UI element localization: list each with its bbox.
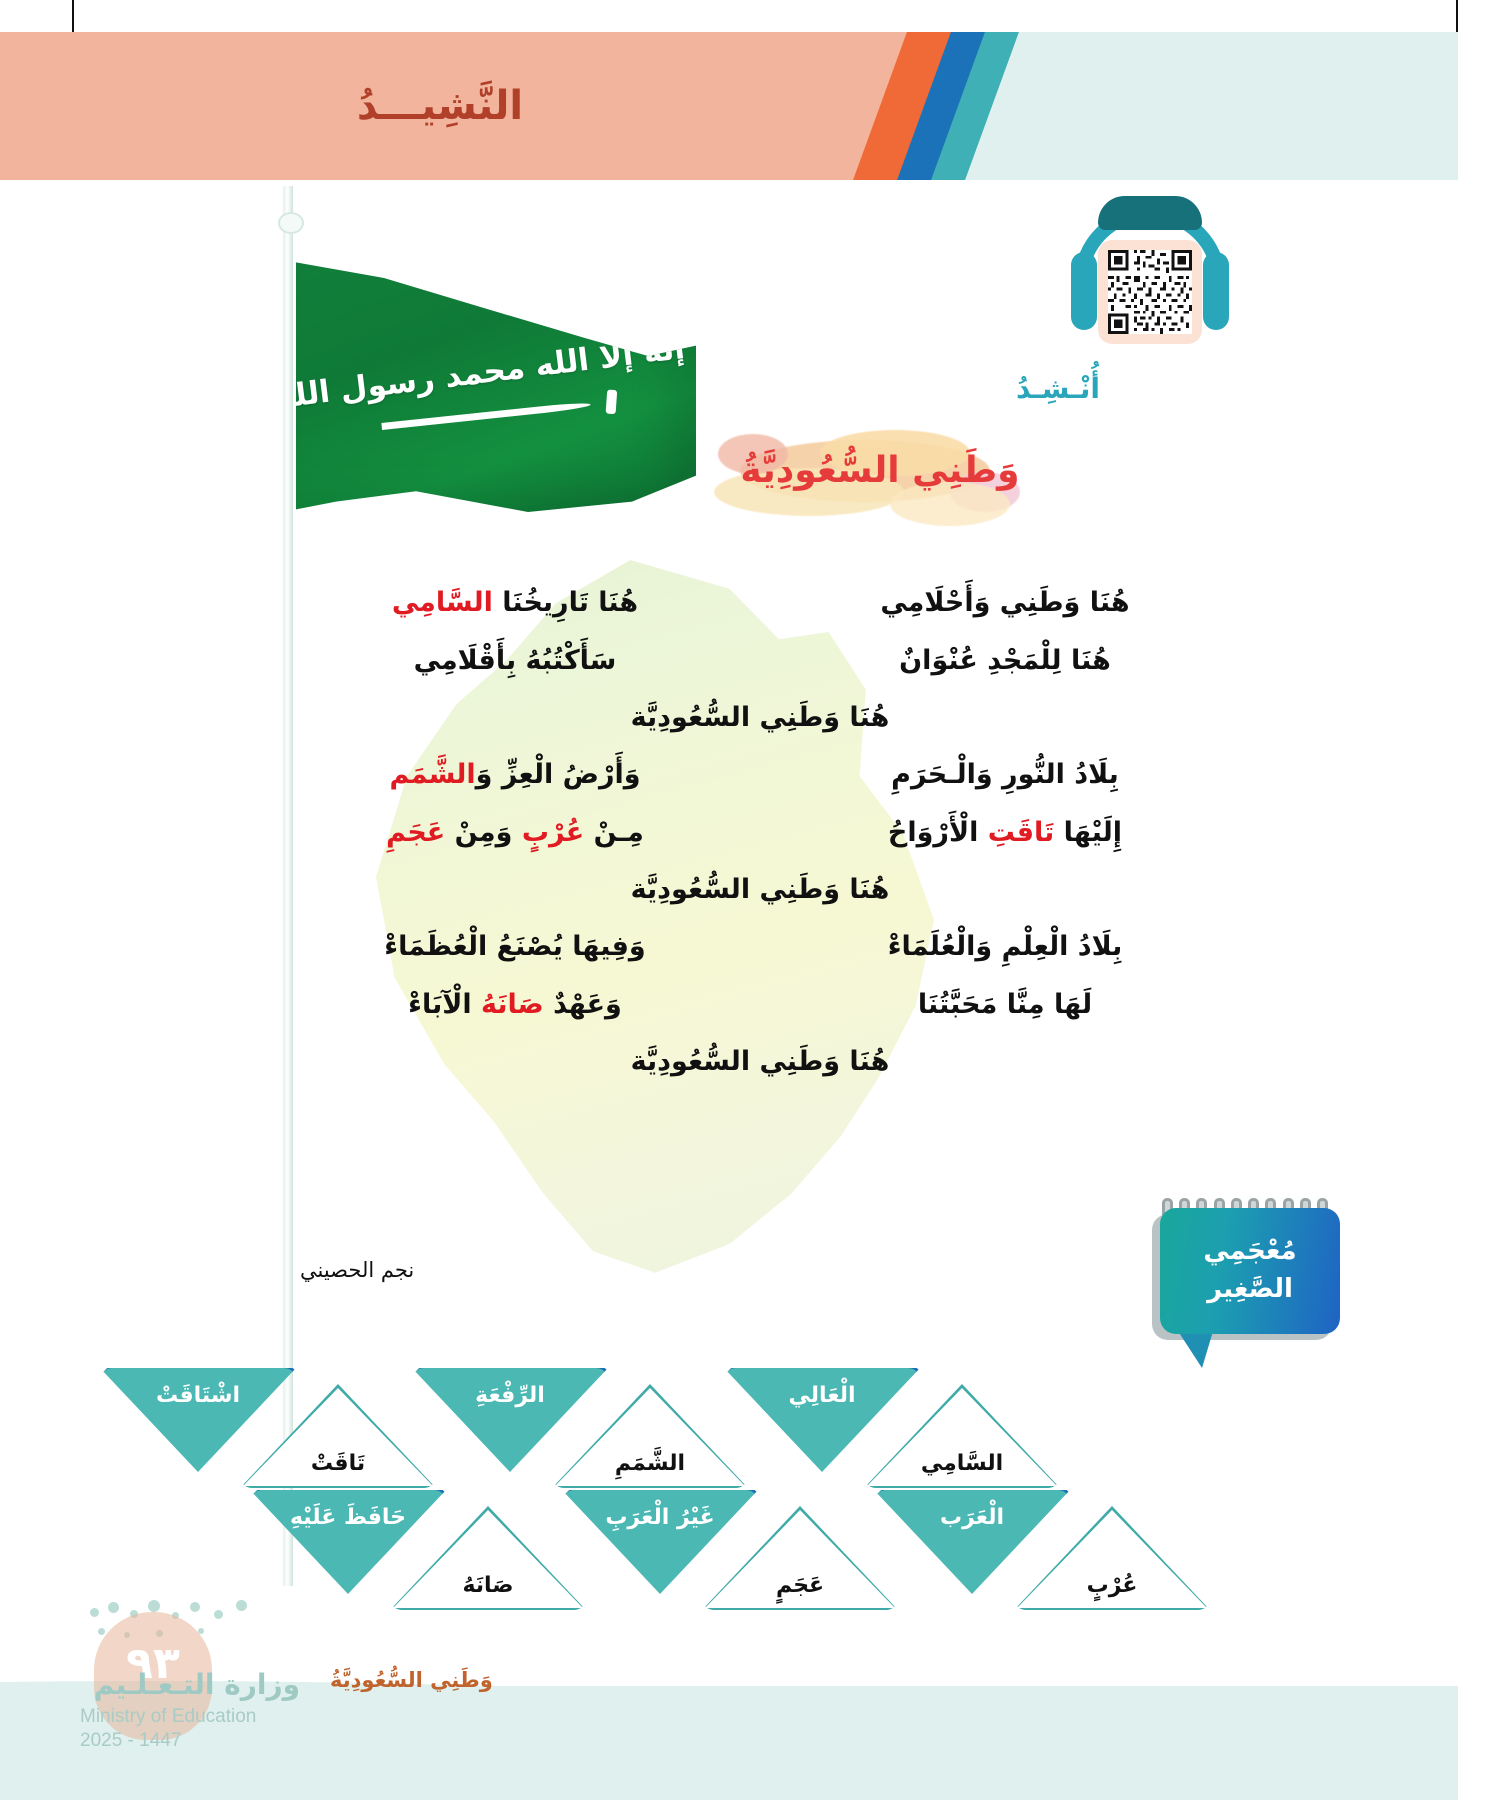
poem-verse: لَهَا مِنَّا مَحَبَّتُنَاوَعَهْدٌ صَانَه… [300,987,1220,1023]
poem-hemistich-left: هُنَا تَارِيخُنَا السَّامِي [300,585,730,621]
poem-highlight-word: عُرْبٍ [522,817,584,848]
poem-hemistich-right: بِلَادُ النُّورِ وَالْـحَرَمِ [790,757,1220,793]
vocabulary-word-tile[interactable]: عَجَمٍ [702,1506,898,1610]
poem-hemistich-left: وَفِيهَا يُصْنَعُ الْعُظَمَاءْ [300,929,730,965]
poem-hemistich-right: هُنَا لِلْمَجْدِ عُنْوَانٌ [790,643,1220,679]
poem-refrain: هُنَا وَطَنِي السُّعُودِيَّة [300,1046,1220,1077]
poem-verse: هُنَا لِلْمَجْدِ عُنْوَانٌسَأَكْتُبُهُ ب… [300,643,1220,679]
vocabulary-word-text: السَّامِي [867,1388,1057,1486]
poem-text: بِلَادُ النُّورِ وَالْـحَرَمِ [891,759,1119,790]
textbook-page: النَّشِيـــدُ لا إله إلا الله محمد رسول … [0,0,1500,1800]
vocabulary-word-tile[interactable]: صَانَهُ [390,1506,586,1610]
poem-text: وَمِنْ [445,817,522,848]
ministry-name-english: Ministry of Education [80,1706,300,1728]
page-right-margin [1458,0,1500,1800]
vocabulary-word-tile[interactable]: عُرْبٍ [1014,1506,1210,1610]
headphones-cup-left [1071,252,1097,330]
headphones-cup-right [1203,252,1229,330]
poem-refrain: هُنَا وَطَنِي السُّعُودِيَّة [300,702,1220,733]
poem-hemistich-left: سَأَكْتُبُهُ بِأَقْلَامِي [300,643,730,679]
poem-title: وَطَنِي السُّعُودِيَّةُ [700,450,1060,491]
flag-shahada-text: لا إله إلا الله محمد رسول الله [274,325,720,415]
vocabulary-word-tile[interactable]: تَاقَتْ [240,1384,436,1488]
listen-label: أُنْـشِـدُ [968,372,1148,405]
dictionary-label-line2: الصَّغِير [1207,1271,1293,1309]
poem-highlight-word: صَانَهُ [481,989,544,1020]
vocabulary-word-tile[interactable]: السَّامِي [864,1384,1060,1488]
vocabulary-word-tile[interactable]: الشَّمَمِ [552,1384,748,1488]
poem-hemistich-right: هُنَا وَطَنِي وَأَحْلَامِي [790,585,1220,621]
vocabulary-word-text: عَجَمٍ [705,1510,895,1608]
poem-text: سَأَكْتُبُهُ بِأَقْلَامِي [414,645,617,676]
ministry-logo: ٩٣ وزارة التـعـلـيم Ministry of Educatio… [80,1620,310,1750]
vocabulary-section: اشْتَاقَتْتَاقَتْالرِّفْعَةِالشَّمَمِالْ… [100,1368,1360,1612]
poem-hemistich-right: بِلَادُ الْعِلْمِ وَالْعُلَمَاءْ [790,929,1220,965]
poem-text: وَعَهْدٌ [544,989,622,1020]
poem-text: وَأَرْضُ الْعِزِّ وَ [476,759,641,790]
poem-verse: هُنَا وَطَنِي وَأَحْلَامِيهُنَا تَارِيخُ… [300,585,1220,621]
dictionary-label-line1: مُعْجَمِي [1203,1233,1296,1271]
poem-highlight-word: عَجَمِ [386,817,445,848]
flag-sword-icon [381,397,611,430]
poem-text: الْآبَاءْ [408,989,481,1020]
vocabulary-row: اشْتَاقَتْتَاقَتْالرِّفْعَةِالشَّمَمِالْ… [100,1368,1360,1490]
footer-lesson-name: وَطَنِي السُّعُودِيَّةُ [330,1668,493,1692]
edition-year: 2025 - 1447 [80,1730,300,1752]
poem-verse: بِلَادُ الْعِلْمِ وَالْعُلَمَاءْوَفِيهَا… [300,929,1220,965]
page-title: النَّشِيـــدُ [0,32,880,180]
vocabulary-word-text: عُرْبٍ [1017,1510,1207,1608]
poem-hemistich-right: إِلَيْهَا تَاقَتِ الْأَرْوَاحُ [790,815,1220,851]
ministry-name-arabic: وزارة التـعـلـيم [80,1668,300,1701]
vocabulary-definition-text: اشْتَاقَتْ [156,1383,240,1408]
vocabulary-word-text: تَاقَتْ [243,1388,433,1486]
vocabulary-row: حَافَظَ عَلَيْهِصَانَهُغَيْرُ الْعَرَبِع… [100,1490,1360,1612]
vocabulary-definition-text: غَيْرُ الْعَرَبِ [605,1505,714,1530]
flag-inscription: لا إله إلا الله محمد رسول الله [296,252,696,512]
vocabulary-definition-text: الرِّفْعَةِ [475,1383,545,1408]
poem-body: هُنَا وَطَنِي وَأَحْلَامِيهُنَا تَارِيخُ… [300,585,1220,1101]
vocabulary-word-text: صَانَهُ [393,1510,583,1608]
vocabulary-definition-text: الْعَالِي [789,1383,856,1408]
poem-hemistich-right: لَهَا مِنَّا مَحَبَّتُنَا [790,987,1220,1023]
poem-highlight-word: الشَّمَم [389,759,475,790]
poem-highlight-word: السَّامِي [392,587,493,618]
vocabulary-definition-text: الْعَرَب [940,1505,1004,1530]
poem-hemistich-left: وَعَهْدٌ صَانَهُ الْآبَاءْ [300,987,730,1023]
poem-text: هُنَا تَارِيخُنَا [493,587,638,618]
poem-text: لَهَا مِنَّا مَحَبَّتُنَا [918,989,1092,1020]
page-header-banner: النَّشِيـــدُ [0,32,1458,180]
dictionary-callout: مُعْجَمِي الصَّغِير [1148,1202,1340,1362]
audio-qr-widget[interactable] [1060,196,1240,366]
poem-text: بِلَادُ الْعِلْمِ وَالْعُلَمَاءْ [888,931,1123,962]
vocabulary-definition-text: حَافَظَ عَلَيْهِ [290,1505,406,1530]
poem-title-block: وَطَنِي السُّعُودِيَّةُ [700,428,1060,538]
vocabulary-word-text: الشَّمَمِ [555,1388,745,1486]
qr-card[interactable] [1098,240,1202,344]
poem-author: نجم الحصيني [300,1258,660,1282]
flag-pole-knob [278,212,304,234]
poem-highlight-word: تَاقَتِ [988,817,1055,848]
poem-text: مِـنْ [584,817,644,848]
speech-bubble-tail-icon [1176,1328,1214,1368]
poem-text: هُنَا لِلْمَجْدِ عُنْوَانٌ [899,645,1111,676]
poem-text: الْأَرْوَاحُ [888,817,988,848]
headphones-band [1098,196,1202,230]
poem-refrain: هُنَا وَطَنِي السُّعُودِيَّة [300,874,1220,905]
poem-text: وَفِيهَا يُصْنَعُ الْعُظَمَاءْ [384,931,645,962]
dictionary-label: مُعْجَمِي الصَّغِير [1160,1208,1340,1334]
poem-text: إِلَيْهَا [1054,817,1122,848]
qr-code-icon[interactable] [1108,250,1192,334]
poem-hemistich-left: مِـنْ عُرْبٍ وَمِنْ عَجَمِ [300,815,730,851]
saudi-flag-icon: لا إله إلا الله محمد رسول الله [296,252,696,512]
poem-verse: بِلَادُ النُّورِ وَالْـحَرَمِوَأَرْضُ ال… [300,757,1220,793]
poem-verse: إِلَيْهَا تَاقَتِ الْأَرْوَاحُمِـنْ عُرْ… [300,815,1220,851]
poem-hemistich-left: وَأَرْضُ الْعِزِّ وَالشَّمَم [300,757,730,793]
poem-text: هُنَا وَطَنِي وَأَحْلَامِي [880,587,1129,618]
